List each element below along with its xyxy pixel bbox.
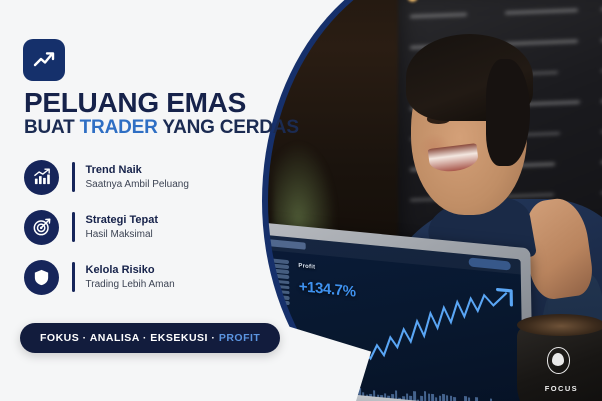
- target-dart-icon: [24, 210, 59, 245]
- shield-icon: [24, 260, 59, 295]
- screen-metric-label: Profit: [298, 263, 315, 271]
- subtitle-highlight: TRADER: [80, 117, 158, 138]
- feature-subtitle: Hasil Maksimal: [86, 228, 159, 242]
- feature-title: Strategi Tepat: [86, 213, 159, 228]
- subtitle-part-1: BUAT: [24, 117, 80, 138]
- feature-title: Trend Naik: [86, 163, 189, 178]
- focus-trade-logo-icon: [547, 347, 570, 374]
- subtitle-part-2: YANG CERDAS: [158, 117, 299, 138]
- brand-logo: [23, 39, 65, 81]
- page-title: PELUANG EMAS: [24, 89, 246, 117]
- page-subtitle: BUAT TRADER YANG CERDAS: [24, 118, 299, 137]
- feature-divider: [72, 162, 75, 192]
- cup-brand-name: FOCUS: [523, 384, 600, 393]
- badge-text: FOKUS · ANALISA · EKSEKUSI ·: [40, 332, 219, 344]
- feature-divider: [72, 262, 75, 292]
- feature-item-strategy: Strategi Tepat Hasil Maksimal: [24, 202, 249, 252]
- feature-item-trend: Trend Naik Saatnya Ambil Peluang: [24, 152, 249, 202]
- feature-list: Trend Naik Saatnya Ambil Peluang Strateg…: [24, 152, 249, 302]
- feature-subtitle: Trading Lebih Aman: [86, 278, 175, 292]
- feature-subtitle: Saatnya Ambil Peluang: [86, 178, 189, 192]
- trending-up-arrow-icon: [32, 48, 56, 72]
- feature-divider: [72, 212, 75, 242]
- badge-highlight: PROFIT: [219, 332, 261, 344]
- feature-title: Kelola Risiko: [86, 263, 175, 278]
- status-badge: FOKUS · ANALISA · EKSEKUSI · PROFIT: [20, 323, 280, 353]
- coffee-surface: [517, 314, 602, 336]
- promo-banner: Profit +134.7% FOCUS TRADE: [0, 0, 602, 401]
- coffee-cup-group: FOCUS TRADE: [504, 314, 602, 401]
- bar-chart-growth-icon: [24, 160, 59, 195]
- feature-item-risk: Kelola Risiko Trading Lebih Aman: [24, 252, 249, 302]
